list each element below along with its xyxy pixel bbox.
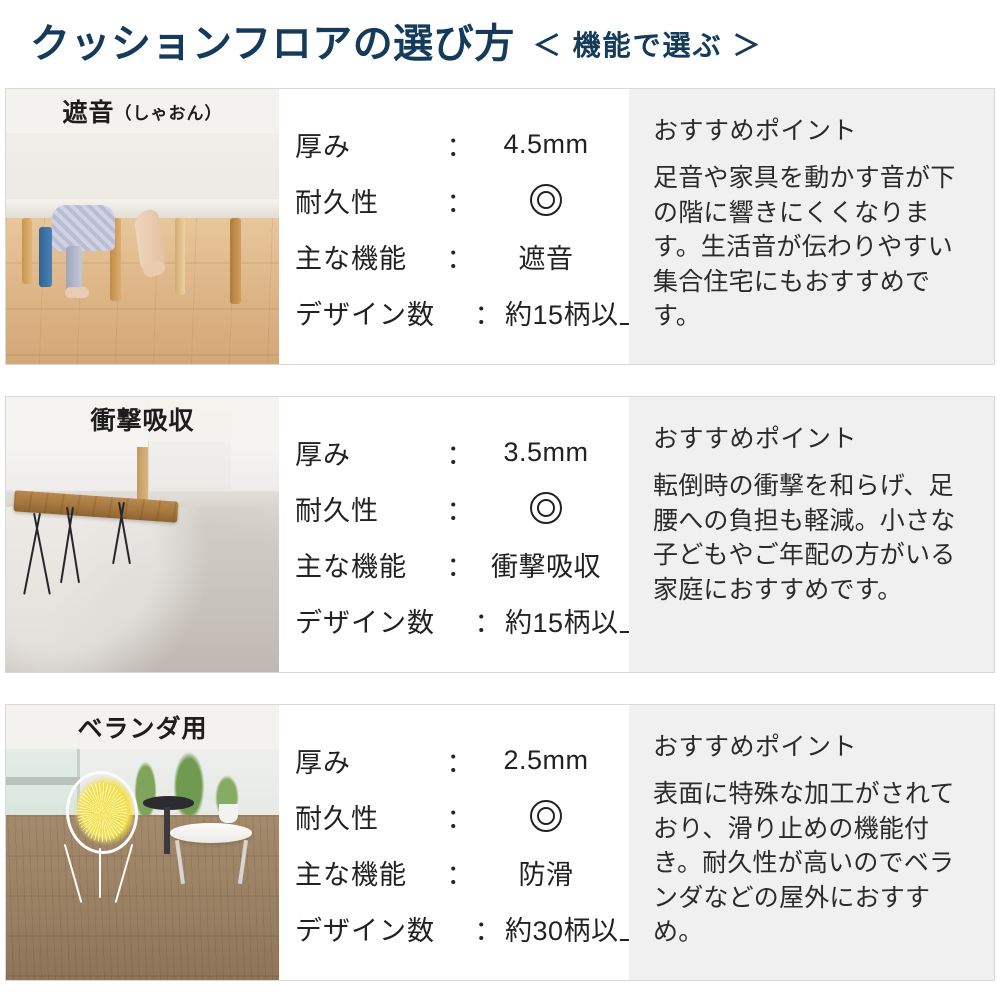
card-title-shock-absorption: 衝撃吸収 <box>6 397 279 441</box>
spec-row-function: 主な機能 ： 遮音 <box>295 229 615 285</box>
spec-row-thickness: 厚み ： 4.5mm <box>295 117 615 173</box>
spec-value-design-count: 約15柄以上 <box>505 293 646 332</box>
feature-card-shock-absorption[interactable]: 衝撃吸収 厚み ： 3.5mm 耐久性 ： 主な機能 ： 衝撃吸収 <box>5 396 995 673</box>
spec-value-function: 衝撃吸収 <box>477 545 615 584</box>
recommend-body: 足音や家具を動かす音が下の階に響きにくくなります。生活音が伝わりやすい集合住宅に… <box>653 161 972 334</box>
card-description-veranda: おすすめポイント 表面に特殊な加工がされており、滑り止めの機能付き。耐久性が高い… <box>629 705 994 980</box>
spec-value-thickness: 2.5mm <box>477 745 615 776</box>
infographic-page: クッションフロアの選び方 ＜ 機能で選ぶ ＞ <box>0 0 1000 1000</box>
page-subtitle: ＜ 機能で選ぶ ＞ <box>533 24 763 64</box>
spec-value-thickness: 3.5mm <box>477 437 615 468</box>
spec-label-thickness: 厚み <box>295 741 443 780</box>
double-circle-icon <box>530 800 562 832</box>
spec-value-design-count: 約30柄以上 <box>505 909 646 948</box>
spec-value-function: 遮音 <box>477 237 615 276</box>
spec-colon: ： <box>443 181 477 220</box>
spec-colon: ： <box>443 237 477 276</box>
recommend-title: おすすめポイント <box>653 727 972 763</box>
card-title-text: 衝撃吸収 <box>90 401 194 437</box>
spec-colon: ： <box>443 853 477 892</box>
spec-label-design-count: デザイン数 <box>295 601 471 640</box>
spec-label-design-count: デザイン数 <box>295 909 471 948</box>
card-specs-veranda: 厚み ： 2.5mm 耐久性 ： 主な機能 ： 防滑 デザイン数 ： <box>279 705 629 980</box>
spec-label-durability: 耐久性 <box>295 489 443 528</box>
spec-label-function: 主な機能 <box>295 237 443 276</box>
spec-row-thickness: 厚み ： 3.5mm <box>295 425 615 481</box>
feature-card-shaon[interactable]: 遮音（しゃおん） 厚み ： 4.5mm 耐久性 ： 主な機能 ： 遮音 <box>5 88 995 365</box>
recommend-title: おすすめポイント <box>653 111 972 147</box>
spec-row-design-count: デザイン数 ： 約15柄以上 <box>295 593 615 649</box>
card-title-shaon: 遮音（しゃおん） <box>6 89 279 133</box>
spec-row-design-count: デザイン数 ： 約30柄以上 <box>295 901 615 957</box>
double-circle-icon <box>530 184 562 216</box>
spec-label-design-count: デザイン数 <box>295 293 471 332</box>
page-title: クッションフロアの選び方 <box>30 24 515 64</box>
spec-row-design-count: デザイン数 ： 約15柄以上 <box>295 285 615 341</box>
feature-card-list: 遮音（しゃおん） 厚み ： 4.5mm 耐久性 ： 主な機能 ： 遮音 <box>0 88 1000 981</box>
card-description-shaon: おすすめポイント 足音や家具を動かす音が下の階に響きにくくなります。生活音が伝わ… <box>629 89 994 364</box>
spec-row-durability: 耐久性 ： <box>295 789 615 845</box>
spec-label-durability: 耐久性 <box>295 181 443 220</box>
spec-label-thickness: 厚み <box>295 433 443 472</box>
spec-colon: ： <box>443 545 477 584</box>
recommend-title: おすすめポイント <box>653 419 972 455</box>
spec-value-durability <box>477 184 615 218</box>
spec-colon: ： <box>471 293 505 332</box>
spec-label-durability: 耐久性 <box>295 797 443 836</box>
card-title-text: 遮音 <box>62 93 114 129</box>
page-header: クッションフロアの選び方 ＜ 機能で選ぶ ＞ <box>0 0 1000 88</box>
spec-row-durability: 耐久性 ： <box>295 173 615 229</box>
spec-value-function: 防滑 <box>477 853 615 892</box>
card-specs-shock-absorption: 厚み ： 3.5mm 耐久性 ： 主な機能 ： 衝撃吸収 デザイン数 ： <box>279 397 629 672</box>
recommend-body: 表面に特殊な加工がされており、滑り止めの機能付き。耐久性が高いのでベランダなどの… <box>653 777 972 950</box>
spec-colon: ： <box>443 433 477 472</box>
feature-card-veranda[interactable]: ベランダ用 厚み ： 2.5mm 耐久性 ： 主な機能 ： 防滑 <box>5 704 995 981</box>
spec-row-function: 主な機能 ： 防滑 <box>295 845 615 901</box>
card-photo-shock-absorption: 衝撃吸収 <box>6 397 279 672</box>
spec-value-design-count: 約15柄以上 <box>505 601 646 640</box>
spec-label-thickness: 厚み <box>295 125 443 164</box>
spec-colon: ： <box>443 489 477 528</box>
spec-colon: ： <box>443 797 477 836</box>
spec-row-thickness: 厚み ： 2.5mm <box>295 733 615 789</box>
double-circle-icon <box>530 492 562 524</box>
spec-label-function: 主な機能 <box>295 853 443 892</box>
spec-row-function: 主な機能 ： 衝撃吸収 <box>295 537 615 593</box>
recommend-body: 転倒時の衝撃を和らげ、足腰への負担も軽減。小さな子どもやご年配の方がいる家庭にお… <box>653 469 972 607</box>
card-title-text: ベランダ用 <box>77 709 207 745</box>
spec-colon: ： <box>471 601 505 640</box>
card-photo-veranda: ベランダ用 <box>6 705 279 980</box>
card-title-veranda: ベランダ用 <box>6 705 279 749</box>
spec-colon: ： <box>443 741 477 780</box>
spec-colon: ： <box>443 125 477 164</box>
spec-value-thickness: 4.5mm <box>477 129 615 160</box>
card-photo-shaon: 遮音（しゃおん） <box>6 89 279 364</box>
card-description-shock-absorption: おすすめポイント 転倒時の衝撃を和らげ、足腰への負担も軽減。小さな子どもやご年配… <box>629 397 994 672</box>
spec-row-durability: 耐久性 ： <box>295 481 615 537</box>
card-title-ruby: （しゃおん） <box>115 99 223 124</box>
card-specs-shaon: 厚み ： 4.5mm 耐久性 ： 主な機能 ： 遮音 デザイン数 ： <box>279 89 629 364</box>
spec-value-durability <box>477 492 615 526</box>
spec-colon: ： <box>471 909 505 948</box>
spec-label-function: 主な機能 <box>295 545 443 584</box>
spec-value-durability <box>477 800 615 834</box>
